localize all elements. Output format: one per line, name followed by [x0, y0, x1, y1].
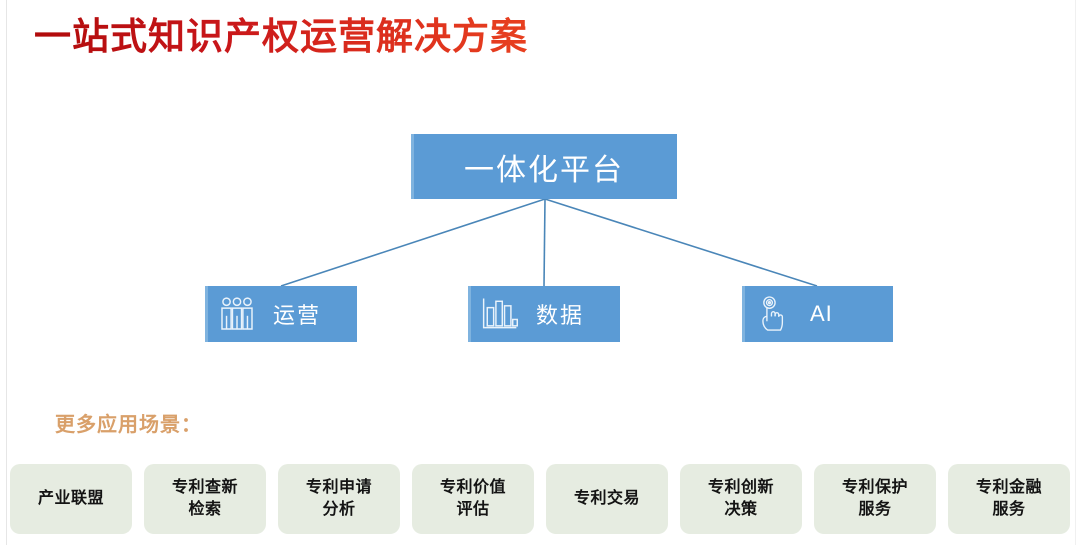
- touch-hand-icon: [752, 293, 796, 335]
- chip-line: 检索: [172, 499, 238, 521]
- node-operations[interactable]: 运营: [205, 286, 357, 342]
- scenario-chip[interactable]: 专利价值评估: [412, 464, 534, 534]
- chip-line: 专利保护: [842, 477, 908, 499]
- scenario-chip-row: 产业联盟 专利查新检索 专利申请分析 专利价值评估 专利交易 专利创新决策 专利…: [10, 464, 1070, 534]
- node-platform[interactable]: 一体化平台: [411, 134, 677, 199]
- connector-platform-to-data: [544, 199, 545, 286]
- chip-line: 专利申请: [306, 477, 372, 499]
- scenario-chip[interactable]: 产业联盟: [10, 464, 132, 534]
- chip-line: 专利金融: [976, 477, 1042, 499]
- node-operations-label: 运营: [273, 298, 321, 330]
- chip-line: 专利创新: [708, 477, 774, 499]
- scenario-chip[interactable]: 专利申请分析: [278, 464, 400, 534]
- node-data-label: 数据: [536, 298, 584, 330]
- scenario-chip[interactable]: 专利交易: [546, 464, 668, 534]
- more-scenarios-caption: 更多应用场景：: [55, 408, 202, 437]
- scenario-chip[interactable]: 专利保护服务: [814, 464, 936, 534]
- node-platform-label: 一体化平台: [464, 145, 624, 189]
- connector-platform-to-ops: [281, 199, 545, 286]
- node-ai-label: AI: [810, 301, 833, 327]
- chip-line: 服务: [842, 499, 908, 521]
- chip-line: 产业联盟: [38, 488, 104, 510]
- scenario-chip[interactable]: 专利查新检索: [144, 464, 266, 534]
- connector-platform-to-ai: [545, 199, 817, 286]
- chip-line: 专利交易: [574, 488, 640, 510]
- scenario-chip[interactable]: 专利金融服务: [948, 464, 1070, 534]
- node-ai[interactable]: AI: [742, 286, 893, 342]
- chip-line: 专利价值: [440, 477, 506, 499]
- platform-diagram: 一体化平台 运: [0, 0, 1080, 420]
- chip-line: 评估: [440, 499, 506, 521]
- connector-lines: [0, 0, 1080, 420]
- node-data[interactable]: 数据: [468, 286, 620, 342]
- chip-line: 决策: [708, 499, 774, 521]
- scenario-chip[interactable]: 专利创新决策: [680, 464, 802, 534]
- bar-chart-icon: [478, 293, 522, 335]
- slide-canvas: 一站式知识产权运营解决方案 一体化平台: [0, 0, 1080, 545]
- three-people-icon: [215, 293, 259, 335]
- chip-line: 专利查新: [172, 477, 238, 499]
- chip-line: 分析: [306, 499, 372, 521]
- chip-line: 服务: [976, 499, 1042, 521]
